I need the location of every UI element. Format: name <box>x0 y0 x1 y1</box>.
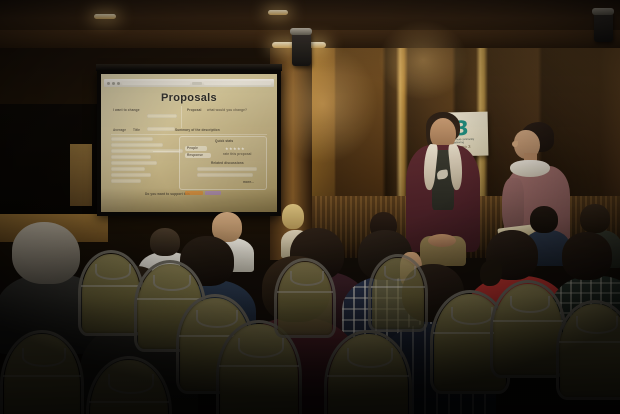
browser-url-bar <box>122 81 190 85</box>
chair-frame <box>490 280 566 378</box>
attendee-gray-hair-left <box>6 222 86 342</box>
presenter-man-hands <box>428 234 456 247</box>
slide-field <box>111 137 153 141</box>
chair-handle <box>347 348 393 368</box>
slide-star-rating: ★★★★★ <box>225 146 245 151</box>
chair <box>86 356 172 414</box>
slide-meta-left: Average <box>113 128 126 132</box>
slide-field <box>197 167 257 171</box>
browser-dot-icon <box>112 82 115 85</box>
slide-stars-caption: rate this proposal <box>223 152 252 156</box>
chair-frame <box>0 330 84 414</box>
slide-field <box>111 161 157 165</box>
slide-divider <box>181 106 182 128</box>
attendee-head <box>282 204 304 229</box>
browser-tab <box>192 82 202 85</box>
browser-toolbar <box>104 79 274 87</box>
ceiling-light <box>94 14 116 19</box>
speaker-bracket <box>592 8 614 15</box>
chair <box>368 254 428 332</box>
chair-handle <box>384 266 417 280</box>
chair <box>324 330 412 414</box>
slide-right-sub: what would you change? <box>207 108 247 112</box>
slide-section-heading: Summary of the description <box>175 128 220 132</box>
attendee-head <box>530 206 558 233</box>
screen-lower-shadow <box>101 188 277 212</box>
slide-more-link: more... <box>243 180 254 184</box>
slide-panel-sub2: Response <box>187 153 203 157</box>
slide-panel-heading: Quick stats <box>215 139 233 143</box>
slide-right-heading: Proposal <box>187 108 201 112</box>
chair <box>490 280 566 378</box>
presenter-woman-collar <box>510 160 550 177</box>
slide-field <box>111 155 151 159</box>
slide-field <box>111 143 163 147</box>
chair-frame <box>556 300 620 400</box>
browser-url-bar <box>204 81 272 85</box>
chair-handle <box>238 338 283 358</box>
browser-dot-icon <box>117 82 120 85</box>
chair <box>0 330 84 414</box>
slide-meta-right: Title <box>133 128 140 132</box>
chair-handle <box>290 271 324 286</box>
chair-frame <box>324 330 412 414</box>
wall-speaker <box>292 32 311 66</box>
slide-title: Proposals <box>101 92 277 104</box>
slide-field <box>111 173 151 177</box>
slide-connector <box>153 151 179 152</box>
slide-divider <box>111 134 267 135</box>
slide-field <box>111 167 145 171</box>
av-equipment-box <box>70 144 92 206</box>
slide-field <box>111 179 141 183</box>
slide-field <box>147 114 177 118</box>
slide-field <box>147 127 175 131</box>
browser-dot-icon <box>107 82 110 85</box>
chair-handle <box>576 316 617 334</box>
conference-room-photo: Proposals I want to change Proposal what… <box>0 0 620 414</box>
attendee-head <box>562 232 612 280</box>
slide-field <box>197 173 253 177</box>
chair-handle <box>95 264 131 280</box>
chair <box>556 300 620 400</box>
speaker-bracket <box>290 28 312 35</box>
projection-screen: Proposals I want to change Proposal what… <box>101 74 277 212</box>
attendee-head <box>12 222 80 284</box>
slide-panel-heading-2: Related discussions <box>211 161 244 165</box>
presenter-woman-profile <box>512 141 518 147</box>
ceiling-light <box>268 10 288 15</box>
chair <box>274 258 336 338</box>
wall-speaker <box>594 12 613 42</box>
attendee-head <box>580 204 610 233</box>
slide-left-heading: I want to change <box>113 108 140 112</box>
chair-handle <box>108 374 153 394</box>
slide-panel-sub: People <box>187 146 198 150</box>
